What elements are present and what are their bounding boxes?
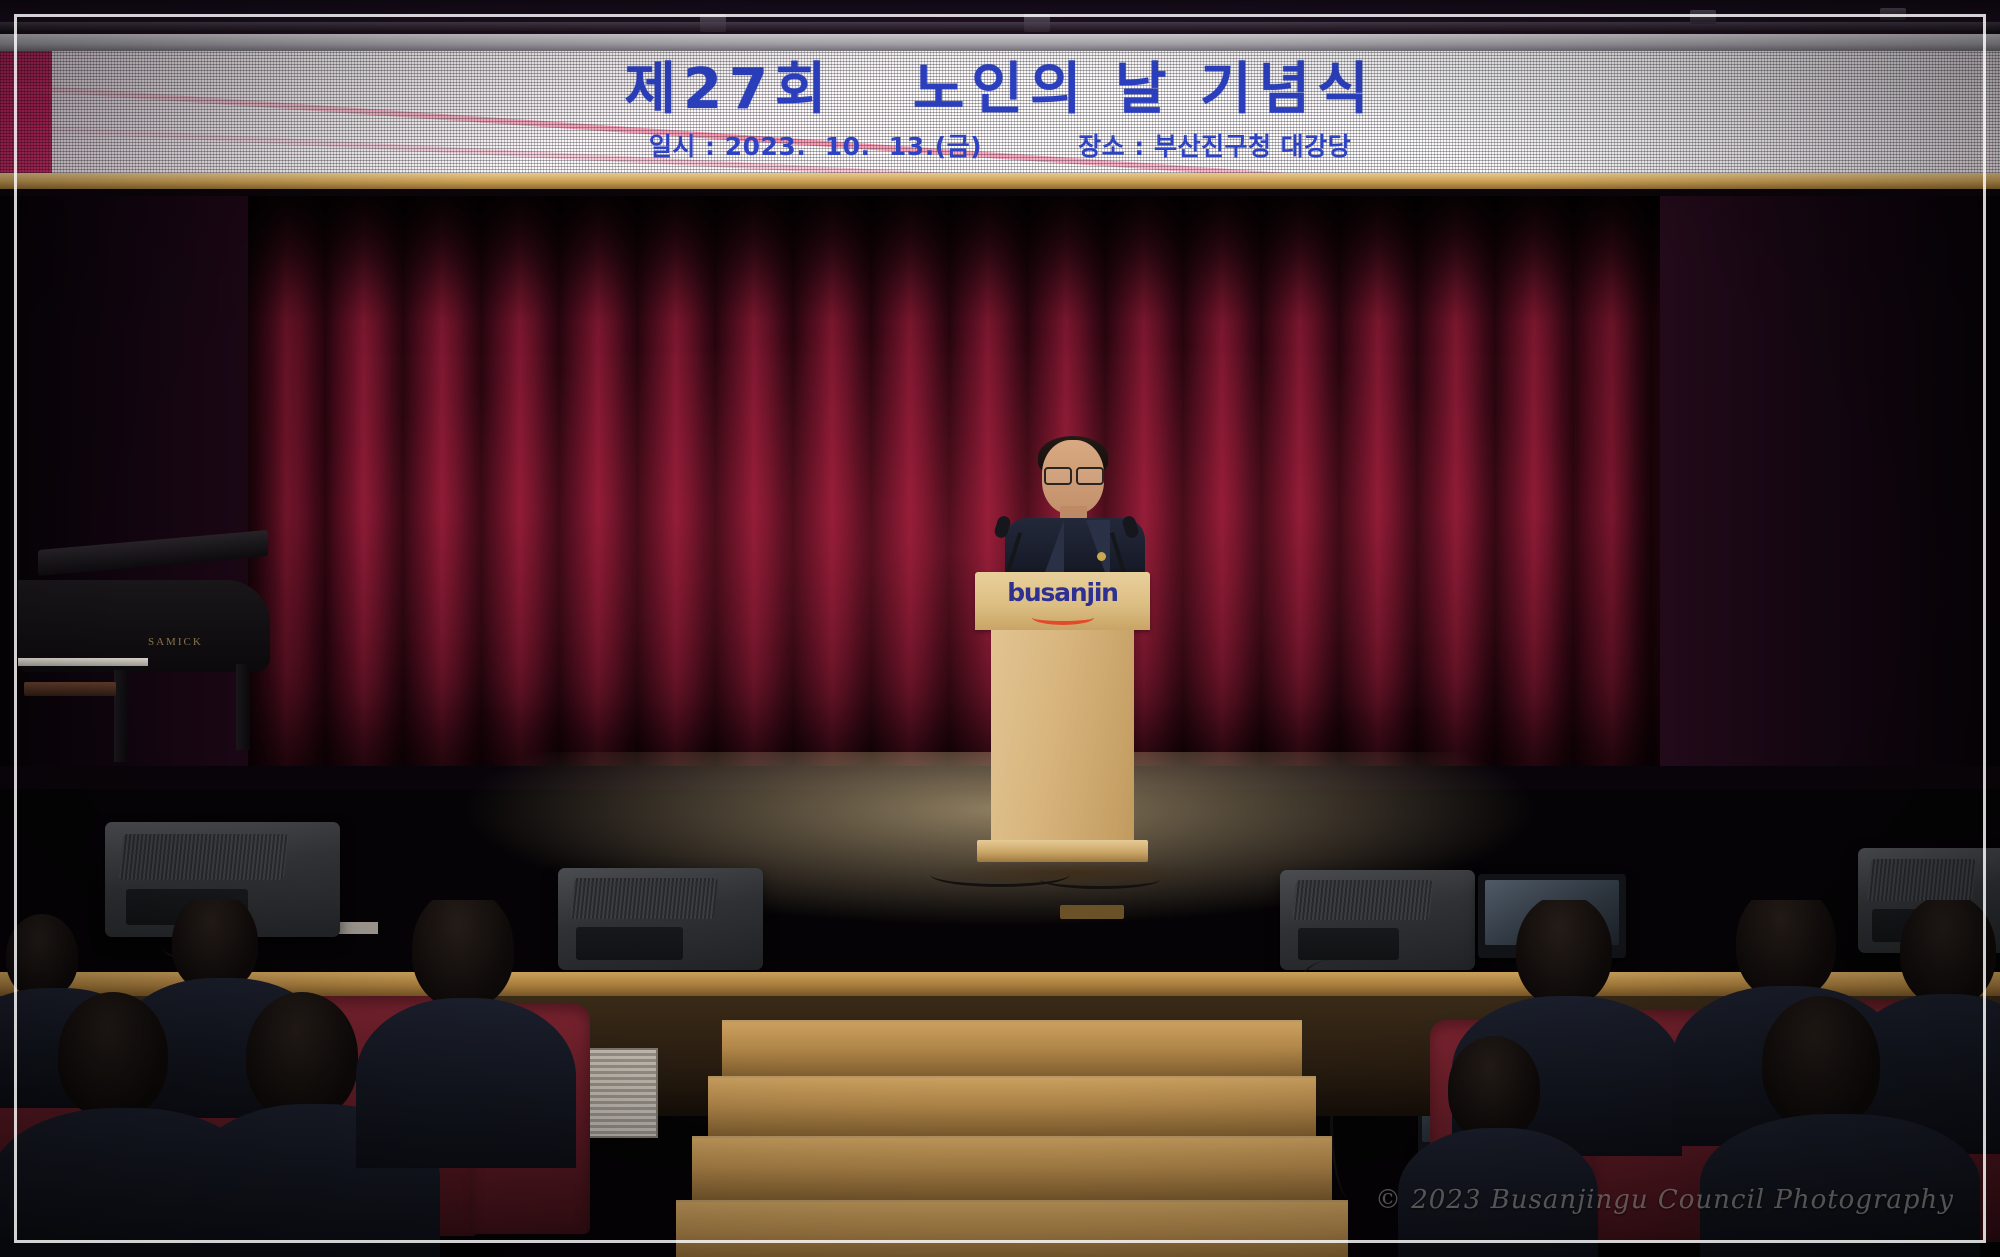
audience-head	[412, 900, 514, 1008]
banner-title: 제27회 노인의 날 기념식	[624, 62, 1375, 118]
led-screen-top-bezel	[0, 34, 2000, 51]
glasses-lens	[1044, 467, 1072, 485]
piano-brand-label: SAMICK	[148, 636, 203, 648]
event-photograph: 제27회 노인의 날 기념식 일시 : 2023. 10. 13.(금) 장소 …	[0, 0, 2000, 1257]
grand-piano: SAMICK	[18, 540, 278, 770]
led-screen-bottom-trim	[0, 173, 2000, 189]
truss-node	[1690, 10, 1716, 24]
audience-head	[58, 992, 168, 1118]
audience-head	[1762, 996, 1880, 1130]
banner-subtitle-row: 일시 : 2023. 10. 13.(금) 장소 : 부산진구청 대강당	[649, 127, 1351, 163]
piano-keyboard	[18, 658, 148, 666]
led-banner-screen: 제27회 노인의 날 기념식 일시 : 2023. 10. 13.(금) 장소 …	[0, 34, 2000, 189]
audience-head	[1736, 900, 1836, 1000]
lapel-badge	[1097, 552, 1106, 561]
podium-logo: busanjin	[975, 580, 1150, 625]
podium-column	[991, 630, 1134, 842]
monitor-grille	[1866, 859, 1975, 901]
audience-head	[6, 914, 78, 998]
podium-logo-smile-icon	[1032, 606, 1094, 625]
banner-text-block: 제27회 노인의 날 기념식 일시 : 2023. 10. 13.(금) 장소 …	[0, 51, 2000, 173]
monitor-grille	[119, 834, 288, 880]
copyright-watermark: © 2023 Busanjingu Council Photography	[1375, 1185, 1954, 1215]
speaker-person	[1000, 440, 1150, 580]
podium-logo-text: busanjin	[975, 580, 1150, 605]
truss-node	[1880, 8, 1906, 20]
glasses-lens	[1076, 467, 1104, 485]
floor-cable	[1040, 870, 1160, 889]
audience-head	[1900, 900, 1996, 1006]
audience-head	[1448, 1036, 1540, 1140]
audience-head	[246, 992, 358, 1120]
speaking-podium: busanjin	[975, 572, 1150, 872]
red-stage-curtain	[248, 196, 1660, 766]
glasses-icon	[1044, 467, 1102, 481]
piano-leg	[114, 670, 128, 762]
audience-shoulders	[356, 998, 576, 1168]
banner-venue: 장소 : 부산진구청 대강당	[1078, 127, 1351, 163]
curtain-sheen	[248, 196, 1660, 766]
piano-leg	[236, 664, 250, 750]
podium-top-panel: busanjin	[975, 572, 1150, 630]
podium-base	[977, 840, 1148, 862]
banner-date: 일시 : 2023. 10. 13.(금)	[649, 127, 982, 163]
truss-node	[1024, 14, 1050, 32]
truss-node	[700, 14, 726, 32]
audience-head	[1516, 900, 1612, 1006]
piano-bench	[24, 682, 116, 696]
curtain-right-wing	[1650, 196, 2000, 766]
